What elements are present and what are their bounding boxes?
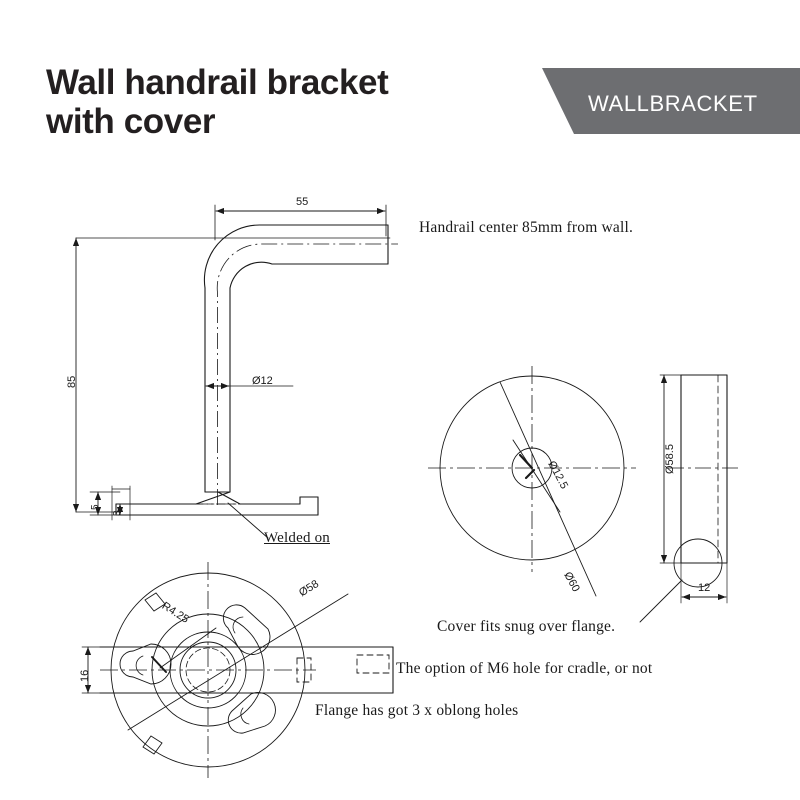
oblong-hole <box>120 605 275 733</box>
dim-label-5: 5 <box>90 504 101 510</box>
leader-r4-25 <box>152 628 216 672</box>
leader-dia60 <box>500 382 596 596</box>
leader-welded-on <box>228 503 268 538</box>
dim-label-3: 3 <box>112 510 123 516</box>
side-elevation-bracket <box>76 205 398 538</box>
dim-label-dia12: Ø12 <box>252 375 273 387</box>
cover-side-section <box>640 375 740 622</box>
m6-symbol <box>357 655 389 673</box>
dim-label-55: 55 <box>296 196 308 208</box>
dim-label-dia58-5: Ø58.5 <box>664 444 676 474</box>
note-handrail-center: Handrail center 85mm from wall. <box>419 219 633 237</box>
flange-plan-view <box>82 562 393 778</box>
note-oblong-holes: Flange has got 3 x oblong holes <box>315 702 518 720</box>
base-plate <box>116 492 318 515</box>
note-cover-fits: Cover fits snug over flange. <box>437 618 615 636</box>
technical-drawing <box>0 0 800 800</box>
note-m6-option: The option of M6 hole for cradle, or not <box>396 660 652 678</box>
dim-dia12 <box>205 383 293 390</box>
dim-label-12: 12 <box>698 582 710 594</box>
cover-front-view <box>428 366 636 596</box>
drawing-page: Wall handrail bracket with cover WALLBRA… <box>0 0 800 800</box>
dim-55 <box>215 205 386 240</box>
rim-notch <box>143 593 165 754</box>
dim-label-85: 85 <box>66 376 78 388</box>
dim-label-16: 16 <box>79 670 91 682</box>
note-welded-on: Welded on <box>264 530 330 547</box>
